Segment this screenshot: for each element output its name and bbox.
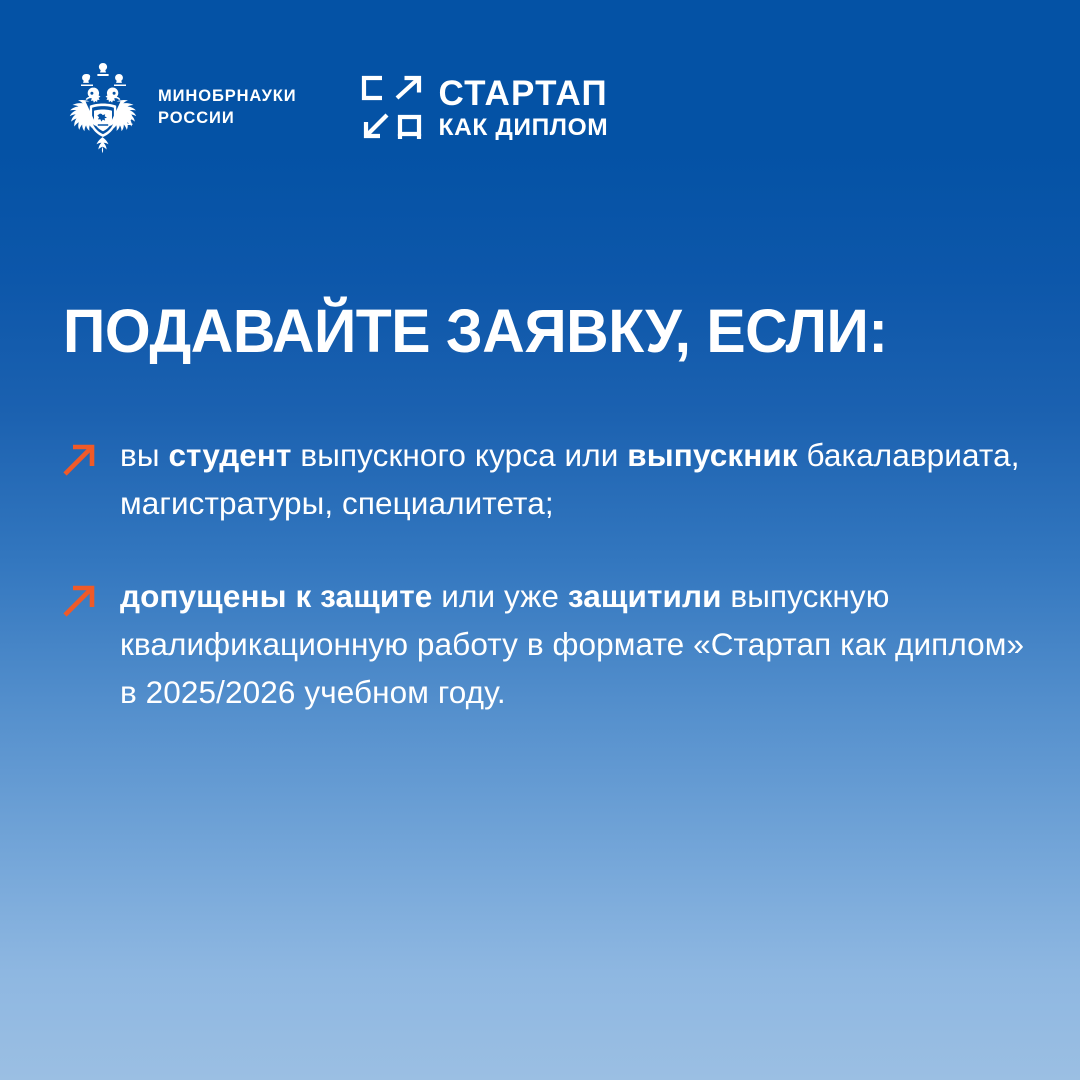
brand-logo-block: СТАРТАП КАК ДИПЛОМ <box>359 74 609 142</box>
promo-poster: МИНОБРНАУКИ РОССИИ <box>0 0 1080 1080</box>
list-item: допущены к защите или уже защитили выпус… <box>62 573 1034 717</box>
list-item: вы студент выпускного курса или выпускни… <box>62 432 1034 528</box>
brand-wordmark: СТАРТАП КАК ДИПЛОМ <box>439 76 609 141</box>
brand-line-kak-diplom: КАК ДИПЛОМ <box>439 116 609 141</box>
list-item-text: допущены к защите или уже защитили выпус… <box>120 573 1034 717</box>
requirements-list: вы студент выпускного курса или выпускни… <box>62 432 1034 716</box>
startup-as-diploma-mark-icon <box>359 74 425 142</box>
header: МИНОБРНАУКИ РОССИИ <box>62 57 608 159</box>
ministry-name: МИНОБРНАУКИ РОССИИ <box>158 86 297 130</box>
arrow-up-right-icon <box>62 443 96 477</box>
ministry-logo-block: МИНОБРНАУКИ РОССИИ <box>62 57 297 159</box>
brand-line-startap: СТАРТАП <box>439 76 609 111</box>
arrow-up-right-icon <box>62 584 96 618</box>
list-item-text: вы студент выпускного курса или выпускни… <box>120 432 1034 528</box>
russian-coat-of-arms-icon <box>62 57 144 159</box>
page-title: ПОДАВАЙТЕ ЗАЯВКУ, ЕСЛИ: <box>63 299 987 363</box>
